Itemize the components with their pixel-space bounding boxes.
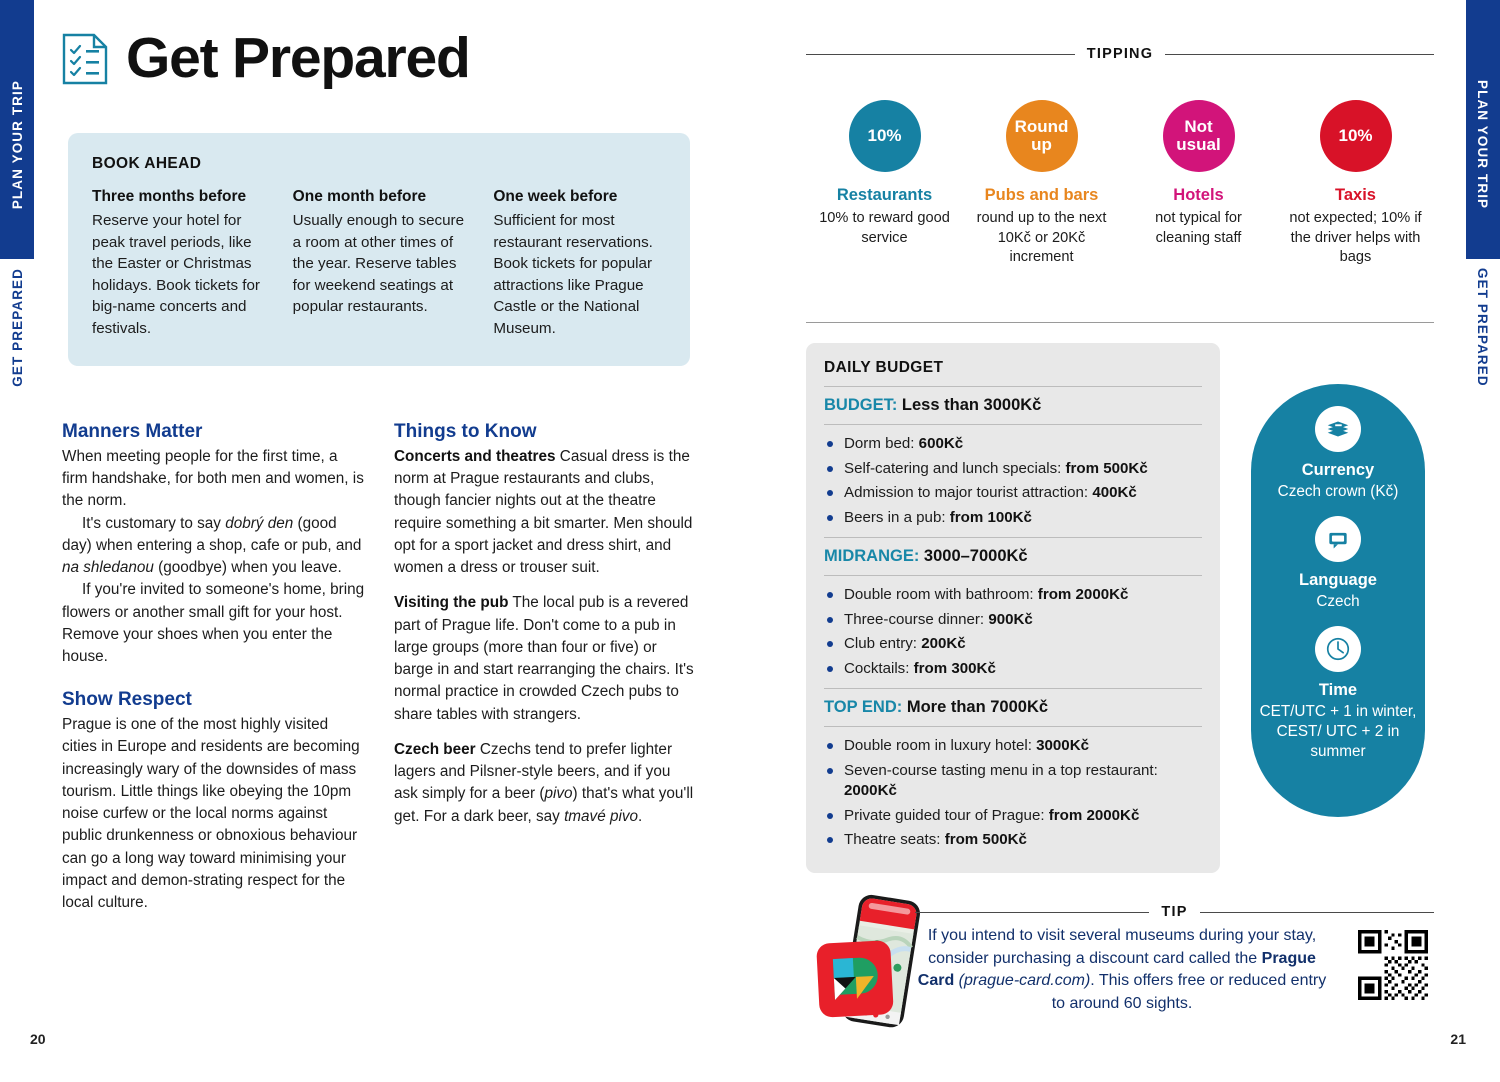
tipping-desc-taxis: not expected; 10% if the driver helps wi… xyxy=(1283,209,1428,268)
qr-code xyxy=(1358,930,1428,1000)
banknotes-icon xyxy=(1315,406,1361,452)
tipping-title: TIPPING xyxy=(1087,46,1153,62)
column-two: Things to Know Concerts and theatres Cas… xyxy=(394,420,698,914)
section-heading-things-to-know: Things to Know xyxy=(394,420,698,444)
tier-label-midrange: MIDRANGE: xyxy=(824,547,919,565)
item-text: Theatre seats: xyxy=(844,831,945,848)
rule-line-left xyxy=(915,912,1149,913)
item-value: 200Kč xyxy=(921,635,965,652)
budget-divider xyxy=(824,537,1202,538)
page-header: Get Prepared xyxy=(62,30,470,87)
budget-list-item: Theatre seats: from 500Kč xyxy=(824,830,1202,851)
quick-fact-currency: Currency Czech crown (Kč) xyxy=(1251,406,1425,502)
item-text: Double room in luxury hotel: xyxy=(844,737,1036,754)
daily-budget-title: DAILY BUDGET xyxy=(824,359,1202,377)
run-in-heading-concerts-and-theatres: Concerts and theatres xyxy=(394,448,556,465)
quick-fact-label-currency: Currency xyxy=(1251,461,1425,480)
tipping-name-pubs-and-bars: Pubs and bars xyxy=(969,186,1114,205)
entry-body-concerts: Casual dress is the norm at Prague resta… xyxy=(394,448,692,576)
left-page: Get Prepared BOOK AHEAD Three months bef… xyxy=(0,0,750,1082)
item-text: Cocktails: xyxy=(844,660,914,677)
budget-list-item: Seven-course tasting menu in a top resta… xyxy=(824,761,1202,802)
tipping-name-restaurants: Restaurants xyxy=(812,186,957,205)
item-value: from 2000Kč xyxy=(1049,807,1140,824)
item-text: Beers in a pub: xyxy=(844,509,950,526)
tipping-badge-hotels: Not usual xyxy=(1163,100,1235,172)
item-value: from 500Kč xyxy=(945,831,1027,848)
budget-list-item: Dorm bed: 600Kč xyxy=(824,434,1202,455)
quick-fact-label-language: Language xyxy=(1251,571,1425,590)
budget-list-item: Club entry: 200Kč xyxy=(824,634,1202,655)
tipping-item-hotels: Not usual Hotels not typical for cleanin… xyxy=(1120,100,1277,268)
manners-p2-italic-dobry-den: dobrý den xyxy=(225,515,293,532)
book-ahead-panel: BOOK AHEAD Three months before Reserve y… xyxy=(68,133,690,366)
rule-line-left xyxy=(806,54,1075,55)
tier-range-top-end: More than 7000Kč xyxy=(902,698,1048,716)
page-number-left: 20 xyxy=(30,1031,46,1047)
item-text: Seven-course tasting menu in a top resta… xyxy=(844,762,1158,779)
item-value: from 300Kč xyxy=(914,660,996,677)
quick-fact-value-currency: Czech crown (Kč) xyxy=(1251,482,1425,502)
budget-tier-heading-midrange: MIDRANGE: 3000–7000Kč xyxy=(824,547,1202,566)
tipping-name-taxis: Taxis xyxy=(1283,186,1428,205)
book-spread: PLAN YOUR TRIP GET PREPARED PLAN YOUR TR… xyxy=(0,0,1500,1082)
beer-italic-tmave-pivo: tmavé pivo xyxy=(564,808,638,825)
section-heading-manners-matter: Manners Matter xyxy=(62,420,366,444)
show-respect-paragraph: Prague is one of the most highly visited… xyxy=(62,714,366,914)
tipping-item-pubs-and-bars: Round up Pubs and bars round up to the n… xyxy=(963,100,1120,268)
rule-line-right xyxy=(1200,912,1434,913)
item-value: 600Kč xyxy=(919,435,963,452)
tip-italic-url: (prague-card.com) xyxy=(954,972,1090,989)
section-divider xyxy=(806,322,1434,323)
tipping-badge-restaurants: 10% xyxy=(849,100,921,172)
tipping-desc-restaurants: 10% to reward good service xyxy=(812,209,957,248)
book-ahead-heading: One week before xyxy=(493,187,666,207)
checklist-document-icon xyxy=(62,33,108,85)
tip-text: If you intend to visit several museums d… xyxy=(912,925,1332,1016)
tipping-item-taxis: 10% Taxis not expected; 10% if the drive… xyxy=(1277,100,1434,268)
budget-list-item: Three-course dinner: 900Kč xyxy=(824,610,1202,631)
quick-fact-value-time: CET/UTC + 1 in winter, CEST/ UTC + 2 in … xyxy=(1251,702,1425,762)
item-value: 2000Kč xyxy=(844,782,897,799)
budget-list-item: Cocktails: from 300Kč xyxy=(824,659,1202,680)
book-ahead-column: One week before Sufficient for most rest… xyxy=(493,187,666,340)
daily-budget-panel: DAILY BUDGET BUDGET: Less than 3000Kč Do… xyxy=(806,343,1220,873)
tip-title: TIP xyxy=(1161,904,1187,920)
book-ahead-body: Reserve your hotel for peak travel perio… xyxy=(92,210,265,339)
item-value: from 2000Kč xyxy=(1038,586,1129,603)
side-tab-label-get-prepared-right: GET PREPARED xyxy=(1475,268,1490,387)
budget-list-item: Self-catering and lunch specials: from 5… xyxy=(824,459,1202,480)
item-value: 400Kč xyxy=(1092,484,1136,501)
side-tab-label-plan-your-trip-right: PLAN YOUR TRIP xyxy=(1475,80,1490,209)
budget-tier-heading-top-end: TOP END: More than 7000Kč xyxy=(824,698,1202,717)
budget-divider xyxy=(824,386,1202,387)
page-number-right: 21 xyxy=(1450,1031,1466,1047)
budget-divider xyxy=(824,726,1202,727)
tipping-desc-pubs-and-bars: round up to the next 10Kč or 20Kč increm… xyxy=(969,209,1114,268)
book-ahead-column: One month before Usually enough to secur… xyxy=(293,187,466,340)
book-ahead-title: BOOK AHEAD xyxy=(92,155,666,173)
budget-list-item: Admission to major tourist attraction: 4… xyxy=(824,483,1202,504)
manners-paragraph-1: When meeting people for the first time, … xyxy=(62,446,366,513)
speech-bubble-icon xyxy=(1315,516,1361,562)
book-ahead-heading: Three months before xyxy=(92,187,265,207)
budget-list-top-end: Double room in luxury hotel: 3000Kč Seve… xyxy=(824,736,1202,851)
tipping-section-header: TIPPING xyxy=(806,46,1434,62)
tipping-desc-hotels: not typical for cleaning staff xyxy=(1126,209,1271,248)
item-value: from 100Kč xyxy=(950,509,1032,526)
budget-list-item: Double room with bathroom: from 2000Kč xyxy=(824,585,1202,606)
tipping-grid: 10% Restaurants 10% to reward good servi… xyxy=(806,100,1434,268)
tipping-badge-taxis: 10% xyxy=(1320,100,1392,172)
item-text: Self-catering and lunch specials: xyxy=(844,460,1066,477)
run-in-heading-czech-beer: Czech beer xyxy=(394,741,476,758)
things-to-know-entry-czech-beer: Czech beer Czechs tend to prefer lighter… xyxy=(394,739,698,828)
beer-body-c: . xyxy=(638,808,642,825)
item-text: Dorm bed: xyxy=(844,435,919,452)
item-value: from 500Kč xyxy=(1066,460,1148,477)
column-one: Manners Matter When meeting people for t… xyxy=(62,420,366,914)
page-title: Get Prepared xyxy=(126,30,470,87)
budget-divider xyxy=(824,424,1202,425)
manners-p2-part-a: It's customary to say xyxy=(82,515,225,532)
entry-body-pub: The local pub is a revered part of Pragu… xyxy=(394,594,694,722)
manners-p2-italic-na-shledanou: na shledanou xyxy=(62,559,154,576)
book-ahead-body: Sufficient for most restaurant reservati… xyxy=(493,210,666,339)
budget-list-item: Double room in luxury hotel: 3000Kč xyxy=(824,736,1202,757)
quick-fact-label-time: Time xyxy=(1251,681,1425,700)
manners-paragraph-3: If you're invited to someone's home, bri… xyxy=(62,579,366,668)
item-text: Admission to major tourist attraction: xyxy=(844,484,1092,501)
tipping-item-restaurants: 10% Restaurants 10% to reward good servi… xyxy=(806,100,963,268)
tier-range-midrange: 3000–7000Kč xyxy=(919,547,1027,565)
item-text: Three-course dinner: xyxy=(844,611,988,628)
manners-paragraph-2: It's customary to say dobrý den (good da… xyxy=(62,513,366,580)
budget-list-budget: Dorm bed: 600Kč Self-catering and lunch … xyxy=(824,434,1202,528)
run-in-heading-visiting-the-pub: Visiting the pub xyxy=(394,594,508,611)
item-value: 900Kč xyxy=(988,611,1032,628)
book-ahead-body: Usually enough to secure a room at other… xyxy=(293,210,466,318)
beer-italic-pivo: pivo xyxy=(544,785,572,802)
left-page-body-columns: Manners Matter When meeting people for t… xyxy=(62,420,698,914)
item-text: Private guided tour of Prague: xyxy=(844,807,1049,824)
tip-section-header: TIP xyxy=(915,904,1434,920)
tier-range-budget: Less than 3000Kč xyxy=(897,396,1041,414)
tier-label-budget: BUDGET: xyxy=(824,396,897,414)
budget-list-item: Beers in a pub: from 100Kč xyxy=(824,508,1202,529)
prague-card-app-phone-illustration xyxy=(812,888,924,1036)
book-ahead-heading: One month before xyxy=(293,187,466,207)
budget-divider xyxy=(824,575,1202,576)
tip-text-b: . This offers free or reduced entry to a… xyxy=(1052,972,1327,1012)
rule-line-right xyxy=(1165,54,1434,55)
quick-fact-language: Language Czech xyxy=(1251,516,1425,612)
things-to-know-entry-pub: Visiting the pub The local pub is a reve… xyxy=(394,592,698,726)
book-ahead-column: Three months before Reserve your hotel f… xyxy=(92,187,265,340)
clock-icon xyxy=(1315,626,1361,672)
tip-text-a: If you intend to visit several museums d… xyxy=(928,927,1316,967)
quick-facts-pill: Currency Czech crown (Kč) Language Czech xyxy=(1251,384,1425,817)
item-text: Club entry: xyxy=(844,635,921,652)
section-heading-show-respect: Show Respect xyxy=(62,688,366,712)
tipping-badge-pubs-and-bars: Round up xyxy=(1006,100,1078,172)
quick-fact-value-language: Czech xyxy=(1251,592,1425,612)
tier-label-top-end: TOP END: xyxy=(824,698,902,716)
quick-fact-time: Time CET/UTC + 1 in winter, CEST/ UTC + … xyxy=(1251,626,1425,762)
item-value: 3000Kč xyxy=(1036,737,1089,754)
tipping-name-hotels: Hotels xyxy=(1126,186,1271,205)
budget-divider xyxy=(824,688,1202,689)
things-to-know-entry-concerts: Concerts and theatres Casual dress is th… xyxy=(394,446,698,580)
item-text: Double room with bathroom: xyxy=(844,586,1038,603)
budget-list-midrange: Double room with bathroom: from 2000Kč T… xyxy=(824,585,1202,679)
budget-tier-heading-budget: BUDGET: Less than 3000Kč xyxy=(824,396,1202,415)
budget-list-item: Private guided tour of Prague: from 2000… xyxy=(824,806,1202,827)
manners-p2-part-c: (goodbye) when you leave. xyxy=(154,559,342,576)
